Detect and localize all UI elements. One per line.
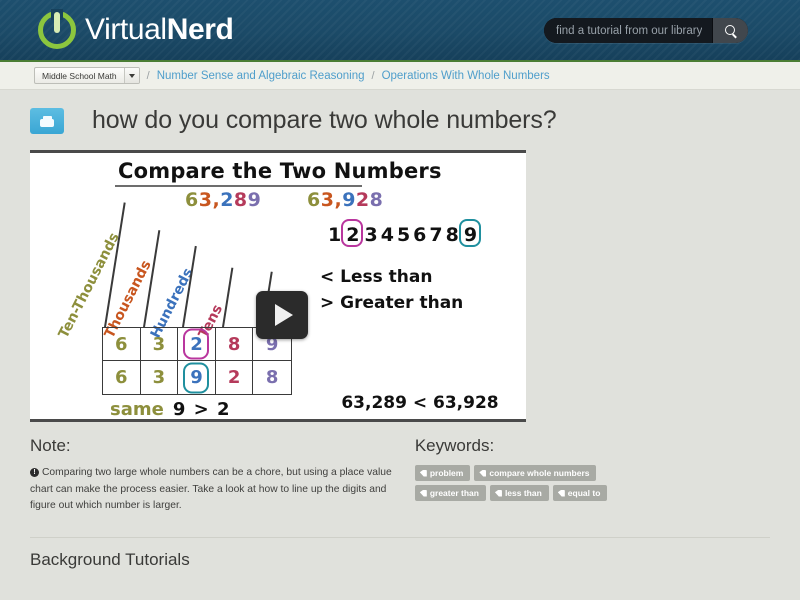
digit-5: 5 [397,224,413,246]
tag-icon [479,470,486,477]
keyword-tag-problem[interactable]: problem [415,465,471,481]
digit-6: 6 [413,224,429,246]
breadcrumb-subject-label: Middle School Math [35,68,124,83]
digit-2-circled: 2 [344,223,364,247]
board-heading-underline [115,185,362,187]
whiteboard: Compare the Two Numbers 63,289 63,928 12… [30,153,526,419]
keywords-heading: Keywords: [415,436,630,456]
digit-4: 4 [381,224,397,246]
table-cell-r2c3: 9 [178,361,216,394]
play-button[interactable] [256,291,308,339]
power-symbol-icon [38,11,76,49]
breadcrumb-link-1[interactable]: Number Sense and Algebraic Reasoning [157,70,365,82]
keyword-tag-label: less than [505,488,542,498]
printer-icon [40,116,54,127]
background-tutorials-heading: Background Tutorials [30,537,770,570]
tutorial-video-thumbnail[interactable]: Compare the Two Numbers 63,289 63,928 12… [30,150,526,422]
keyword-tag-less-than[interactable]: less than [490,485,549,501]
digit-strip: 123456789 [328,223,482,247]
tag-icon [495,490,502,497]
tag-icon [420,470,427,477]
tag-icon [420,490,427,497]
keyword-tag-list: problem compare whole numbers greater th… [415,465,630,501]
board-number-b: 63,928 [307,189,383,211]
search-input[interactable] [544,18,712,43]
note-keywords-section: Note: !Comparing two large whole numbers… [30,436,630,515]
keyword-tag-label: problem [430,468,464,478]
table-cell-r1c2: 3 [141,328,179,361]
search-box[interactable] [544,18,748,43]
info-icon: ! [30,468,39,477]
table-cell-r2c1: 6 [103,361,141,394]
table-cell-r1c1: 6 [103,328,141,361]
board-footer-note: same9 > 2 [110,399,231,420]
keyword-tag-greater-than[interactable]: greater than [415,485,486,501]
search-icon [725,25,736,36]
board-number-a: 63,289 [185,189,261,211]
board-heading: Compare the Two Numbers [118,159,442,183]
search-button[interactable] [712,18,748,43]
table-cell-r1c3: 2 [178,328,216,361]
note-column: Note: !Comparing two large whole numbers… [30,436,397,515]
board-footer-same: same [110,399,164,420]
tag-icon [558,490,565,497]
play-icon [275,304,293,326]
title-row: how do you compare two whole numbers? [30,104,590,136]
chevron-down-icon[interactable] [124,68,139,83]
legend-greater-than: > Greater than [320,291,463,317]
note-body: Comparing two large whole numbers can be… [30,467,392,511]
comparison-result: 63,289 < 63,928 or 63,928 63,289 [320,337,520,422]
note-heading: Note: [30,436,397,456]
digit-7: 7 [429,224,445,246]
note-body-wrap: !Comparing two large whole numbers can b… [30,465,397,515]
keyword-tag-label: compare whole numbers [489,468,589,478]
result-line-1: 63,289 < 63,928 [320,390,520,416]
keyword-tag-label: greater than [430,488,479,498]
brand-logo[interactable]: VirtualNerd [38,11,233,49]
keywords-column: Keywords: problem compare whole numbers … [415,436,630,515]
brand-name-light: Virtual [85,13,167,46]
page-title: how do you compare two whole numbers? [92,104,557,136]
digit-9-circled: 9 [462,223,482,247]
breadcrumb: Middle School Math / Number Sense and Al… [0,62,800,90]
brand-name-bold: Nerd [167,13,234,46]
print-button[interactable] [30,108,64,134]
keyword-tag-equal-to[interactable]: equal to [553,485,608,501]
table-cell-r2c2: 3 [141,361,179,394]
comparison-legend: < Less than > Greater than [320,265,463,316]
place-line-tens [222,268,233,327]
breadcrumb-link-2[interactable]: Operations With Whole Numbers [382,70,550,82]
breadcrumb-subject-select[interactable]: Middle School Math [34,67,140,84]
table-cell-r2c5: 8 [253,361,291,394]
breadcrumb-separator-2: / [372,70,375,82]
keyword-tag-compare-whole-numbers[interactable]: compare whole numbers [474,465,596,481]
table-cell-r1c4: 8 [216,328,254,361]
site-header: VirtualNerd [0,0,800,62]
breadcrumb-separator-1: / [147,70,150,82]
digit-3: 3 [364,224,380,246]
brand-name: VirtualNerd [85,13,233,47]
table-cell-r2c4: 2 [216,361,254,394]
legend-less-than: < Less than [320,265,463,291]
keyword-tag-label: equal to [568,488,601,498]
board-footer-compare: 9 > 2 [173,399,231,420]
